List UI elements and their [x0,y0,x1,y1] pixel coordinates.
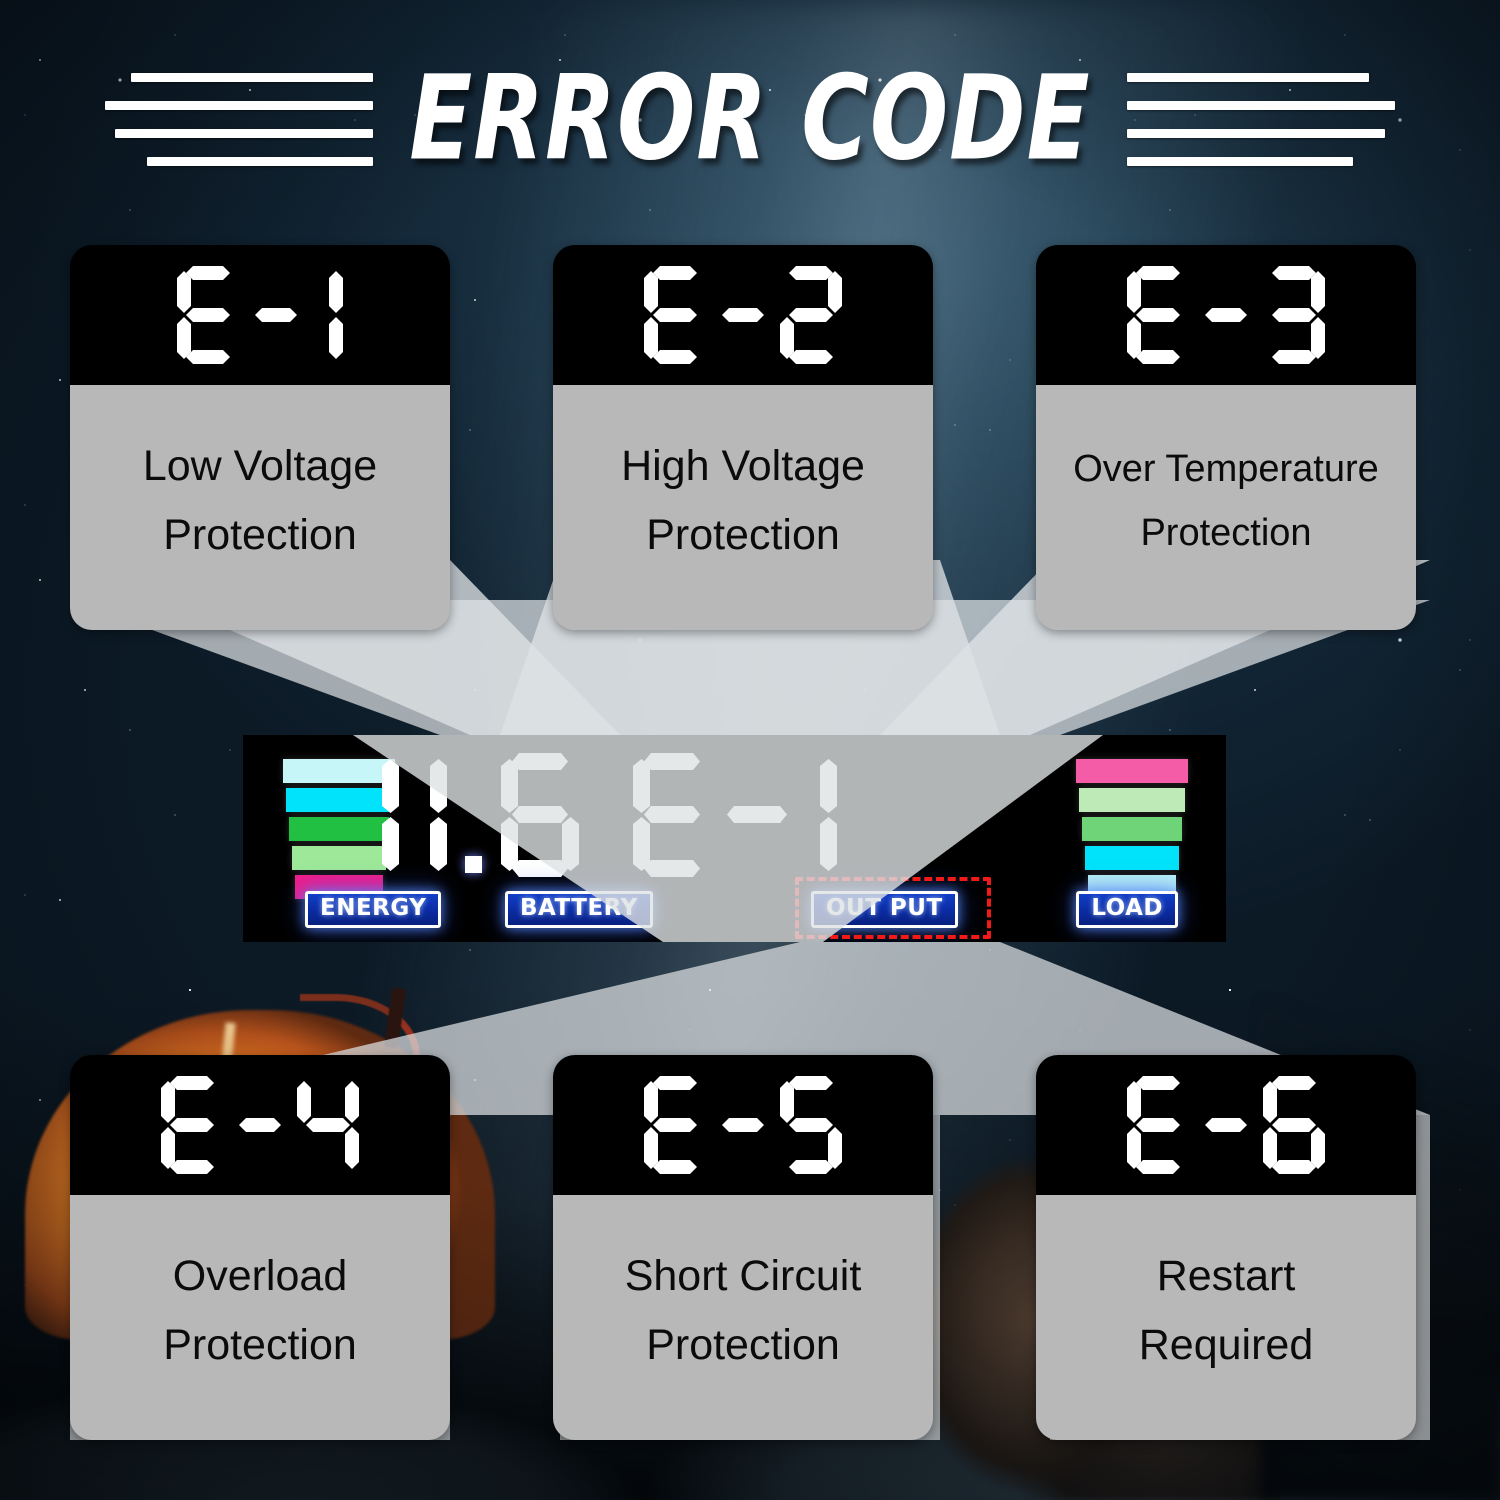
seven-segment-char [720,1076,766,1174]
output-highlight-box [795,877,991,939]
segment-g [186,308,230,322]
error-card-e1[interactable]: Low Voltage Protection [70,245,450,630]
seven-segment-error [633,753,837,877]
error-card-line2: Protection [646,1324,840,1367]
seven-segment-char [365,753,399,877]
segment-e [633,817,650,871]
error-code-display-e5 [553,1055,933,1195]
seven-segment-e3 [1127,266,1325,364]
error-card-body-e1: Low Voltage Protection [70,385,450,630]
segment-d [1272,1160,1316,1174]
segment-d [653,350,697,364]
seven-segment-char [161,1076,223,1174]
error-card-line2: Protection [163,514,357,557]
error-card-line2: Protection [163,1324,357,1367]
segment-f [161,1081,175,1123]
label-load[interactable]: LOAD [1076,891,1178,928]
segment-d [186,350,230,364]
title-rule-line [115,129,373,138]
seven-segment-e6 [1127,1076,1325,1174]
segment-g [653,1118,697,1132]
load-bar-segment [1079,788,1185,812]
segment-e [644,1127,658,1169]
segment-c [1311,317,1325,359]
segment-c [329,317,343,359]
segment-a [653,1076,697,1090]
segment-a [653,266,697,280]
title-rules-right [1127,65,1395,171]
segment-d [1272,350,1316,364]
readout-digits [365,753,837,877]
segment-d [170,1160,214,1174]
segment-f [644,271,658,313]
error-card-line1: Low Voltage [143,445,377,488]
segment-b [329,271,343,313]
segment-e [1127,317,1141,359]
segment-b [382,759,399,813]
seven-segment-e5 [644,1076,842,1174]
load-bargraph [1076,759,1188,904]
segment-a [170,1076,214,1090]
segment-c [820,817,837,871]
segment-b [430,759,447,813]
segment-b [820,759,837,813]
segment-f [780,1081,794,1123]
segment-d [512,860,568,877]
segment-d [789,350,833,364]
segment-f [1127,1081,1141,1123]
title-rule-line [1127,129,1385,138]
segment-g [1205,1118,1247,1132]
error-card-e6[interactable]: Restart Required [1036,1055,1416,1440]
error-code-display-e2 [553,245,933,385]
seven-segment-char [725,753,789,877]
error-card-e3[interactable]: Over Temperature Protection [1036,245,1416,630]
segment-b [345,1081,359,1123]
seven-segment-char [1127,266,1189,364]
decimal-point [461,753,487,877]
seven-segment-char [644,266,706,364]
error-card-line1: Short Circuit [625,1255,862,1298]
seven-segment-char [413,753,447,877]
title-rule-line [1127,73,1369,82]
error-card-body-e3: Over Temperature Protection [1036,385,1416,630]
error-code-display-e1 [70,245,450,385]
segment-f [1127,271,1141,313]
seven-segment-char [803,753,837,877]
segment-g [1136,1118,1180,1132]
seven-segment-char [237,1076,283,1174]
load-bar-segment [1076,759,1188,783]
segment-f [644,1081,658,1123]
segment-a [512,753,568,770]
load-bar-segment [1082,817,1182,841]
segment-f [1263,1081,1277,1123]
segment-d [653,1160,697,1174]
segment-g [789,308,833,322]
error-card-line2: Required [1139,1324,1314,1367]
segment-a [1272,1076,1316,1090]
segment-g [255,308,297,322]
seven-segment-char [1263,1076,1325,1174]
segment-g [306,1118,350,1132]
segment-b [1311,271,1325,313]
title-rules-left [105,65,373,171]
seven-segment-char [720,266,766,364]
segment-c [382,817,399,871]
seven-segment-e2 [644,266,842,364]
title-rule-line [131,73,373,82]
label-energy[interactable]: ENERGY [305,891,441,928]
seven-segment-char [633,753,711,877]
error-card-e2[interactable]: High Voltage Protection [553,245,933,630]
page-title-row: ERROR CODE [0,62,1500,174]
segment-g [1272,308,1316,322]
segment-c [828,1127,842,1169]
segment-g [512,806,568,823]
error-code-display-e6 [1036,1055,1416,1195]
segment-f [177,271,191,313]
error-card-e5[interactable]: Short Circuit Protection [553,1055,933,1440]
segment-e [644,317,658,359]
seven-segment-char [501,753,579,877]
segment-g [170,1118,214,1132]
seven-segment-char [313,266,343,364]
title-rule-line [147,157,373,166]
segment-a [186,266,230,280]
segment-g [239,1118,281,1132]
segment-e [1127,1127,1141,1169]
seven-segment-char [644,1076,706,1174]
segment-g [1205,308,1247,322]
error-code-display-e4 [70,1055,450,1195]
error-code-poster: ERROR CODE Low Voltage Protection High V… [0,0,1500,1500]
error-card-body-e4: Overload Protection [70,1195,450,1440]
segment-c [1311,1127,1325,1169]
segment-d [1136,350,1180,364]
error-card-line1: Over Temperature [1073,450,1379,488]
error-card-line2: Protection [1140,514,1311,552]
segment-d [1136,1160,1180,1174]
segment-a [789,1076,833,1090]
title-rule-line [1127,157,1353,166]
seven-segment-char [253,266,299,364]
segment-a [1136,1076,1180,1090]
segment-g [722,1118,764,1132]
segment-c [430,817,447,871]
segment-e [177,317,191,359]
seven-segment-char [177,266,239,364]
segment-a [1136,266,1180,280]
error-card-body-e5: Short Circuit Protection [553,1195,933,1440]
segment-d [789,1160,833,1174]
segment-d [644,860,700,877]
seven-segment-char [1263,266,1325,364]
seven-segment-char [780,1076,842,1174]
seven-segment-e4 [161,1076,359,1174]
segment-g [1136,308,1180,322]
title-rule-line [105,101,373,110]
segment-g [722,308,764,322]
error-card-body-e6: Restart Required [1036,1195,1416,1440]
segment-g [727,806,787,823]
seven-segment-char [780,266,842,364]
error-card-line1: Restart [1157,1255,1296,1298]
segment-g [644,806,700,823]
seven-segment-voltage [365,753,579,877]
error-card-line1: Overload [173,1255,347,1298]
segment-a [789,266,833,280]
seven-segment-char [1127,1076,1189,1174]
error-code-display-e3 [1036,245,1416,385]
segment-e [1263,1127,1277,1169]
segment-e [501,817,518,871]
segment-a [644,753,700,770]
segment-f [633,759,650,813]
title-rule-line [1127,101,1395,110]
segment-f [297,1081,311,1123]
segment-c [345,1127,359,1169]
error-card-e4[interactable]: Overload Protection [70,1055,450,1440]
segment-g [1272,1118,1316,1132]
segment-a [1272,266,1316,280]
segment-e [780,317,794,359]
seven-segment-char [1203,1076,1249,1174]
seven-segment-char [1203,266,1249,364]
segment-b [828,271,842,313]
load-bar-segment [1085,846,1179,870]
error-card-body-e2: High Voltage Protection [553,385,933,630]
page-title: ERROR CODE [388,50,1112,187]
error-card-line1: High Voltage [621,445,865,488]
seven-segment-char [297,1076,359,1174]
seven-segment-e1 [177,266,343,364]
error-card-line2: Protection [646,514,840,557]
segment-f [501,759,518,813]
inverter-display-panel[interactable]: ENERGY BATTERY OUT PUT LOAD [243,735,1226,942]
segment-e [161,1127,175,1169]
segment-g [789,1118,833,1132]
segment-c [562,817,579,871]
label-battery[interactable]: BATTERY [505,891,653,928]
segment-g [653,308,697,322]
